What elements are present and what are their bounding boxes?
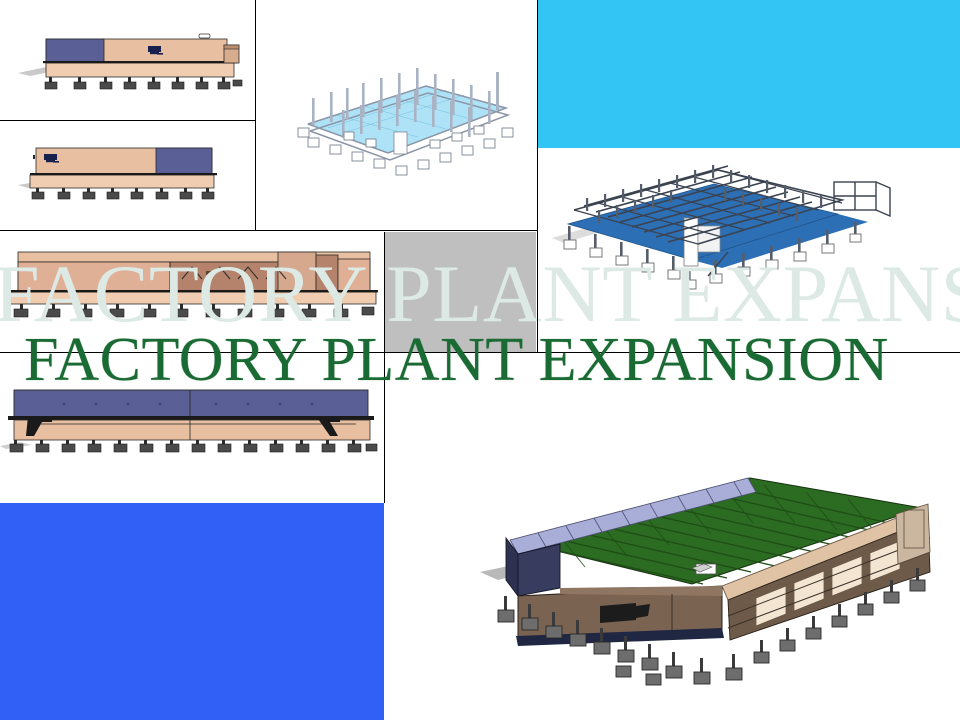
- foundation-axonometric-drawing: [256, 0, 537, 231]
- rule-vertical-panel-divider: [255, 0, 256, 231]
- panel-foundation-axonometric: [256, 0, 537, 231]
- panel-elevation-south: [0, 121, 256, 231]
- panel-elevation-north: [0, 0, 256, 121]
- block-blue: [0, 503, 384, 720]
- elevation-south-drawing: [0, 121, 256, 231]
- building-logo-mark: [148, 46, 163, 55]
- building-3d-drawing: [460, 468, 960, 720]
- slide-title-ghost: FACTORY PLANT EXPANSION: [0, 253, 960, 335]
- block-cyan: [538, 0, 960, 148]
- elevation-north-drawing: [0, 0, 256, 121]
- building-logo-mark: [44, 154, 59, 163]
- rule-horizontal-elev-divider: [0, 120, 256, 121]
- panel-building-3d-render: [460, 468, 960, 720]
- slide-title: FACTORY PLANT EXPANSION: [24, 329, 889, 391]
- rule-vertical-right-divider: [537, 0, 538, 352]
- presentation-slide: FACTORY PLANT EXPANSION: [0, 0, 960, 720]
- rule-horizontal-panel-bottom: [0, 230, 537, 231]
